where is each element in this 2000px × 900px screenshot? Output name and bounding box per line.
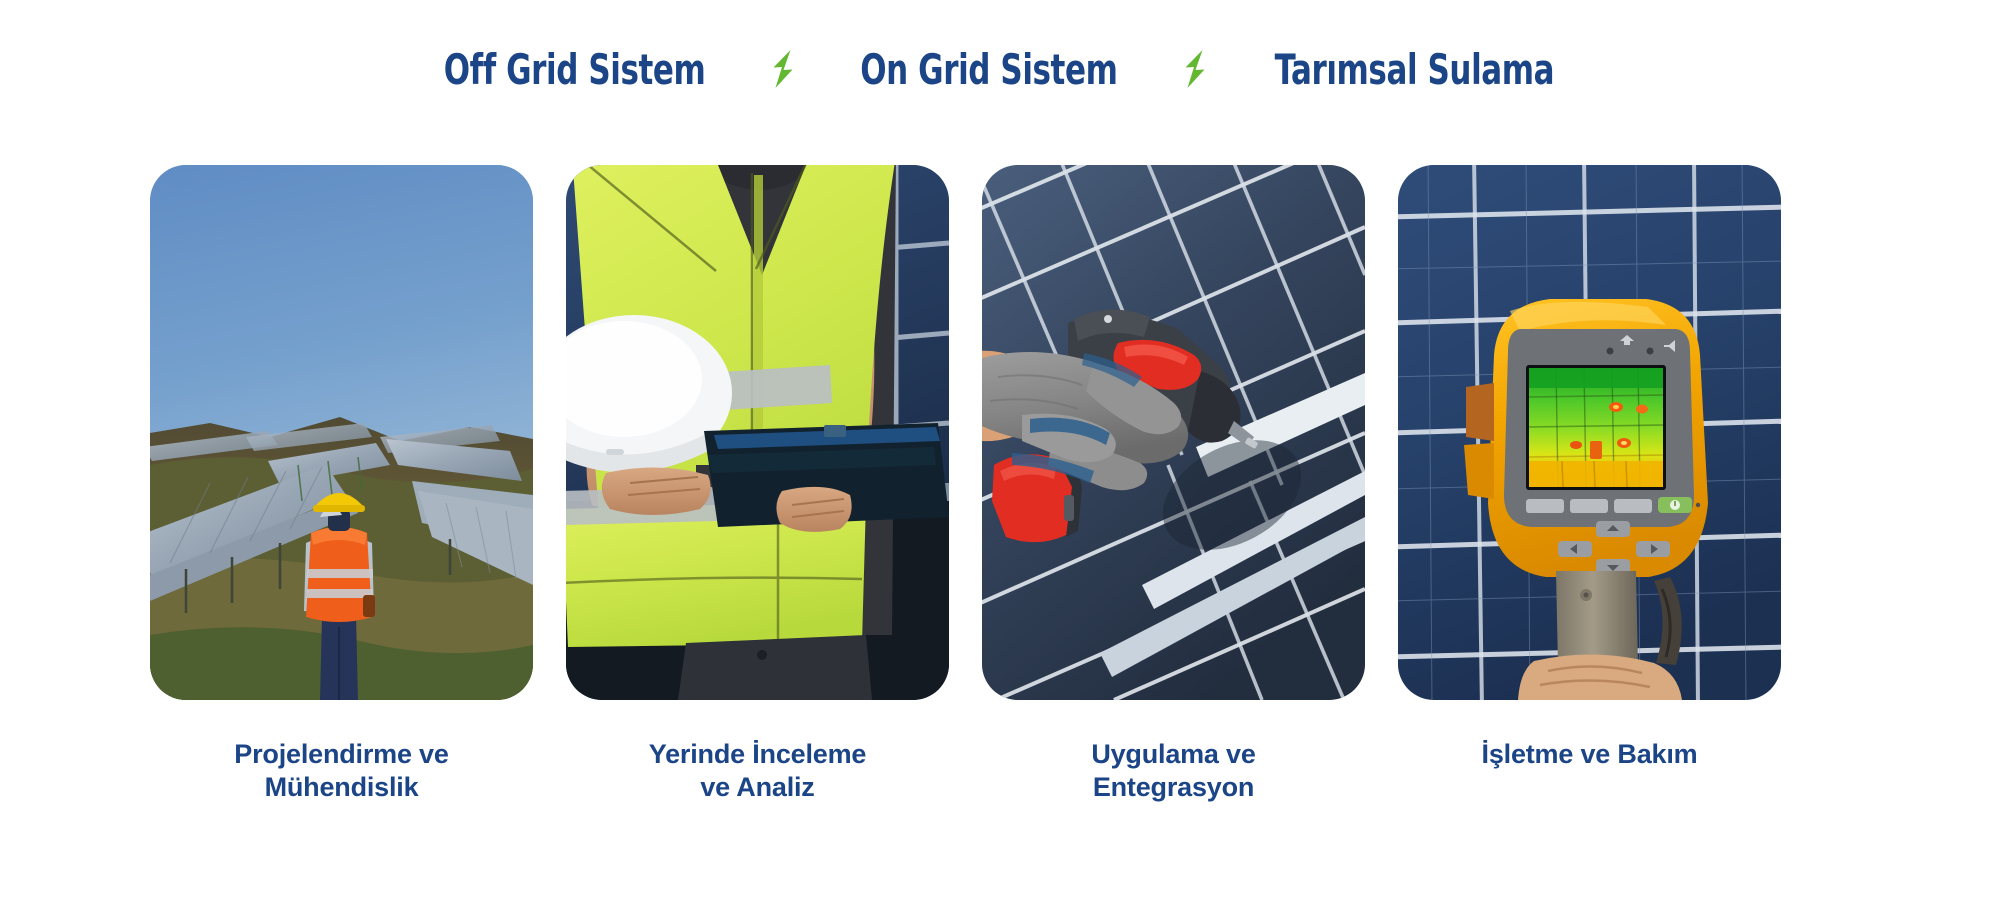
- service-card-isletme-bakim[interactable]: İşletme ve Bakım: [1398, 165, 1781, 805]
- lightning-bolt-icon: [768, 48, 798, 90]
- service-card-yerinde-inceleme[interactable]: Yerinde İnceleme ve Analiz: [566, 165, 949, 805]
- installer-drill-photo: [982, 165, 1365, 700]
- service-card-uygulama[interactable]: Uygulama ve Entegrasyon: [982, 165, 1365, 805]
- engineer-clipboard-photo: [566, 165, 949, 700]
- top-service-nav: Off Grid Sistem On Grid Sistem Tarımsal …: [0, 40, 2000, 98]
- lightning-bolt-icon: [1180, 48, 1210, 90]
- service-card-projelendirme[interactable]: Projelendirme ve Mühendislik: [150, 165, 533, 805]
- service-cards-row: Projelendirme ve Mühendislik: [150, 165, 1790, 805]
- service-card-label: Uygulama ve Entegrasyon: [1091, 738, 1255, 805]
- service-card-label: Yerinde İnceleme ve Analiz: [649, 738, 866, 805]
- service-card-label: Projelendirme ve Mühendislik: [234, 738, 448, 805]
- nav-item-tarimsal-sulama[interactable]: Tarımsal Sulama: [1275, 45, 1554, 94]
- nav-item-on-grid[interactable]: On Grid Sistem: [861, 45, 1118, 94]
- thermal-camera-photo: [1398, 165, 1781, 700]
- solar-farm-worker-photo: [150, 165, 533, 700]
- service-card-label: İşletme ve Bakım: [1482, 738, 1698, 771]
- nav-item-off-grid[interactable]: Off Grid Sistem: [444, 45, 706, 94]
